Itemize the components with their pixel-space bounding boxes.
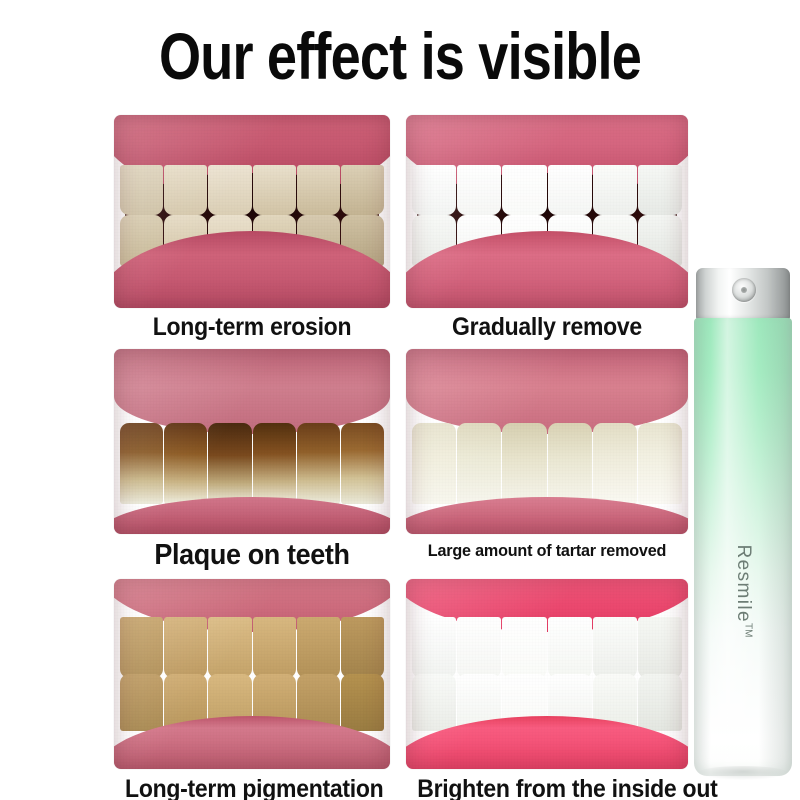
comparison-cell-after: Large amount of tartar removed <box>406 349 688 534</box>
comparison-row: Long-term pigmentation <box>114 579 688 800</box>
photo-long-term-pigmentation <box>114 579 390 769</box>
comparison-row: Plaque on teeth <box>114 349 688 575</box>
photo-brighten-inside-out <box>406 579 688 769</box>
photo-long-term-erosion <box>114 115 390 308</box>
comparison-row: Long-term erosion <box>114 115 688 343</box>
photo-caption: Plaque on teeth <box>124 539 381 572</box>
photo-gradually-remove <box>406 115 688 308</box>
photo-tartar-removed <box>406 349 688 534</box>
photo-caption: Gradually remove <box>417 313 676 342</box>
bottle-shadow <box>698 766 788 780</box>
product-bottle[interactable]: ResmileTM <box>694 268 792 776</box>
before-after-grid: Long-term erosion <box>114 115 688 800</box>
photo-caption: Brighten from the inside out <box>417 775 676 800</box>
photo-caption: Long-term pigmentation <box>125 775 379 800</box>
brand-label: ResmileTM <box>732 545 754 638</box>
ad-poster: Our effect is visible <box>0 0 800 800</box>
photo-caption: Long-term erosion <box>125 313 379 342</box>
photo-plaque-on-teeth <box>114 349 390 534</box>
photo-caption: Large amount of tartar removed <box>413 541 681 561</box>
comparison-cell-before: Long-term erosion <box>114 115 390 308</box>
comparison-cell-before: Long-term pigmentation <box>114 579 390 769</box>
comparison-cell-before: Plaque on teeth <box>114 349 390 534</box>
bottle-cap <box>696 268 790 320</box>
spray-nozzle-icon[interactable] <box>732 278 756 302</box>
comparison-cell-after: Gradually remove <box>406 115 688 308</box>
brand-name: Resmile <box>733 545 754 623</box>
page-title: Our effect is visible <box>72 22 728 91</box>
comparison-cell-after: Brighten from the inside out <box>406 579 688 769</box>
trademark-symbol: TM <box>742 623 753 637</box>
